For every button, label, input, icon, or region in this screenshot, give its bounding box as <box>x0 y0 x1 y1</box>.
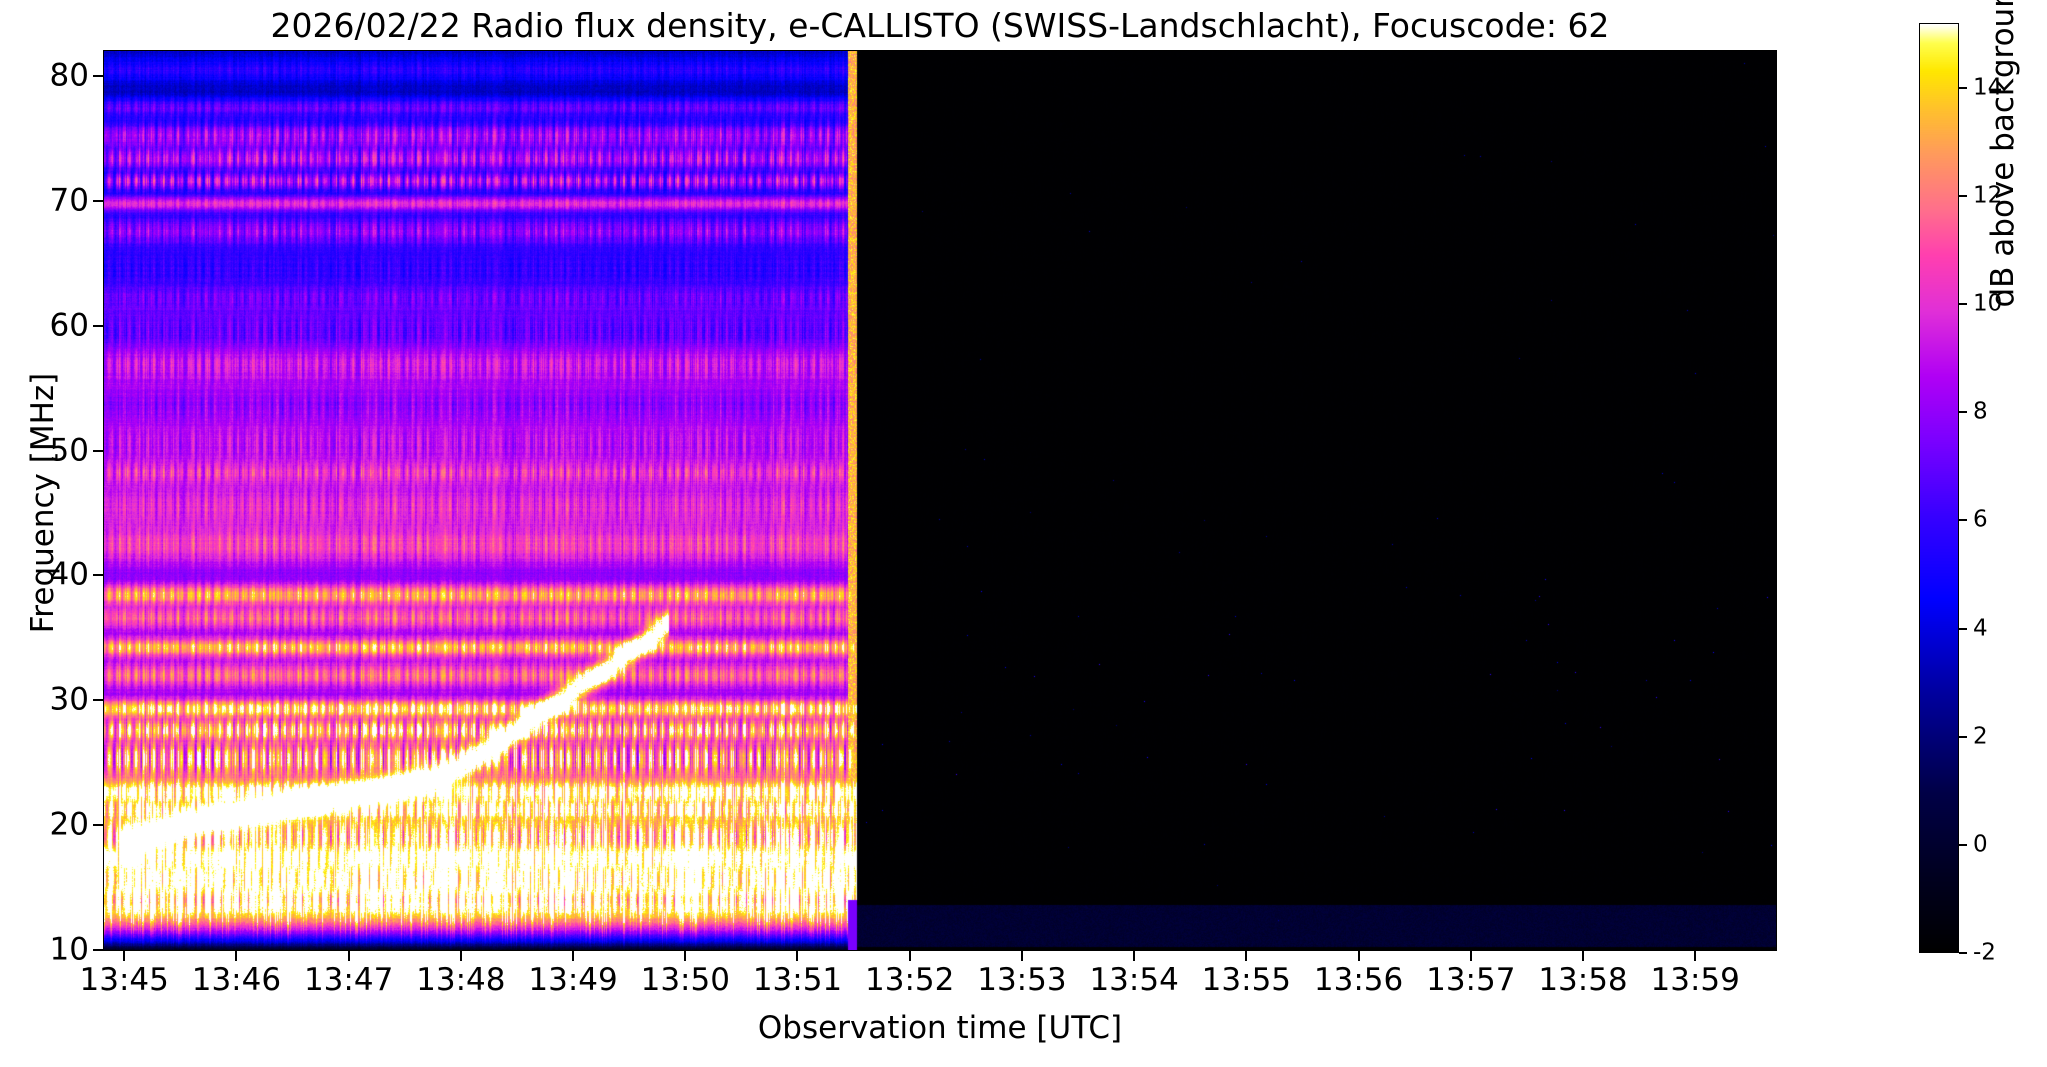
colorbar-tick-mark <box>1959 628 1967 630</box>
y-tick-mark <box>93 450 103 452</box>
colorbar-tick-mark <box>1959 303 1967 305</box>
colorbar-tick-mark <box>1959 411 1967 413</box>
x-tick-label: 13:47 <box>304 965 393 996</box>
colorbar-title: dB above background <box>1985 0 2021 488</box>
colorbar-gradient <box>1919 23 1959 953</box>
x-tick-mark <box>1694 951 1696 961</box>
colorbar-tick-mark <box>1959 519 1967 521</box>
colorbar-tick-mark <box>1959 952 1967 954</box>
x-tick-label: 13:49 <box>528 965 617 996</box>
page-title: 2026/02/22 Radio flux density, e-CALLIST… <box>103 6 1777 46</box>
x-tick-mark <box>1133 951 1135 961</box>
y-tick-label: 10 <box>50 935 89 966</box>
y-axis: Frequency [MHz] 8070605040302010 <box>0 0 103 1067</box>
x-tick-mark <box>1021 951 1023 961</box>
x-tick-label: 13:52 <box>865 965 954 996</box>
colorbar-tick-mark <box>1959 844 1967 846</box>
x-tick-label: 13:57 <box>1426 965 1515 996</box>
y-tick-label: 60 <box>50 310 89 341</box>
x-tick-mark <box>796 951 798 961</box>
x-tick-label: 13:59 <box>1651 965 1740 996</box>
x-axis-title: Observation time [UTC] <box>103 1010 1777 1046</box>
colorbar-tick-mark <box>1959 736 1967 738</box>
y-tick-mark <box>93 75 103 77</box>
x-tick-label: 13:55 <box>1202 965 1291 996</box>
x-tick-label: 13:46 <box>192 965 281 996</box>
y-tick-label: 20 <box>50 810 89 841</box>
x-tick-mark <box>1245 951 1247 961</box>
colorbar-tick-label: 0 <box>1973 833 1988 856</box>
x-tick-mark <box>1358 951 1360 961</box>
x-tick-mark <box>348 951 350 961</box>
x-tick-mark <box>684 951 686 961</box>
x-tick-mark <box>1582 951 1584 961</box>
x-axis: Observation time [UTC] 13:4513:4613:4713… <box>0 951 2047 1067</box>
x-tick-label: 13:45 <box>80 965 169 996</box>
x-tick-mark <box>460 951 462 961</box>
y-tick-mark <box>93 824 103 826</box>
x-tick-mark <box>235 951 237 961</box>
y-tick-label: 80 <box>50 60 89 91</box>
y-tick-label: 40 <box>50 560 89 591</box>
x-tick-label: 13:53 <box>977 965 1066 996</box>
colorbar-tick-label: 4 <box>1973 617 1988 640</box>
x-tick-mark <box>123 951 125 961</box>
x-tick-label: 13:54 <box>1089 965 1178 996</box>
x-tick-label: 13:56 <box>1314 965 1403 996</box>
colorbar-tick-mark <box>1959 87 1967 89</box>
colorbar-tick-mark <box>1959 195 1967 197</box>
y-tick-label: 50 <box>50 435 89 466</box>
y-tick-mark <box>93 574 103 576</box>
x-tick-mark <box>572 951 574 961</box>
y-axis-title: Frequency [MHz] <box>25 93 61 913</box>
x-tick-label: 13:48 <box>416 965 505 996</box>
spectrogram-image[interactable] <box>104 51 1776 950</box>
x-tick-label: 13:58 <box>1538 965 1627 996</box>
x-tick-mark <box>909 951 911 961</box>
y-tick-label: 30 <box>50 685 89 716</box>
x-tick-mark <box>1470 951 1472 961</box>
y-tick-mark <box>93 200 103 202</box>
y-tick-mark <box>93 325 103 327</box>
colorbar-tick-label: -2 <box>1973 942 1996 965</box>
colorbar-tick-label: 6 <box>1973 509 1988 532</box>
colorbar-tick-label: 2 <box>1973 725 1988 748</box>
spectrogram-axes[interactable] <box>103 50 1777 951</box>
y-tick-mark <box>93 949 103 951</box>
spectrogram-figure: 2026/02/22 Radio flux density, e-CALLIST… <box>0 0 2047 1067</box>
colorbar[interactable]: 14121086420-2 <box>1919 23 1959 953</box>
y-tick-mark <box>93 699 103 701</box>
x-tick-label: 13:50 <box>641 965 730 996</box>
y-tick-label: 70 <box>50 185 89 216</box>
x-tick-label: 13:51 <box>753 965 842 996</box>
